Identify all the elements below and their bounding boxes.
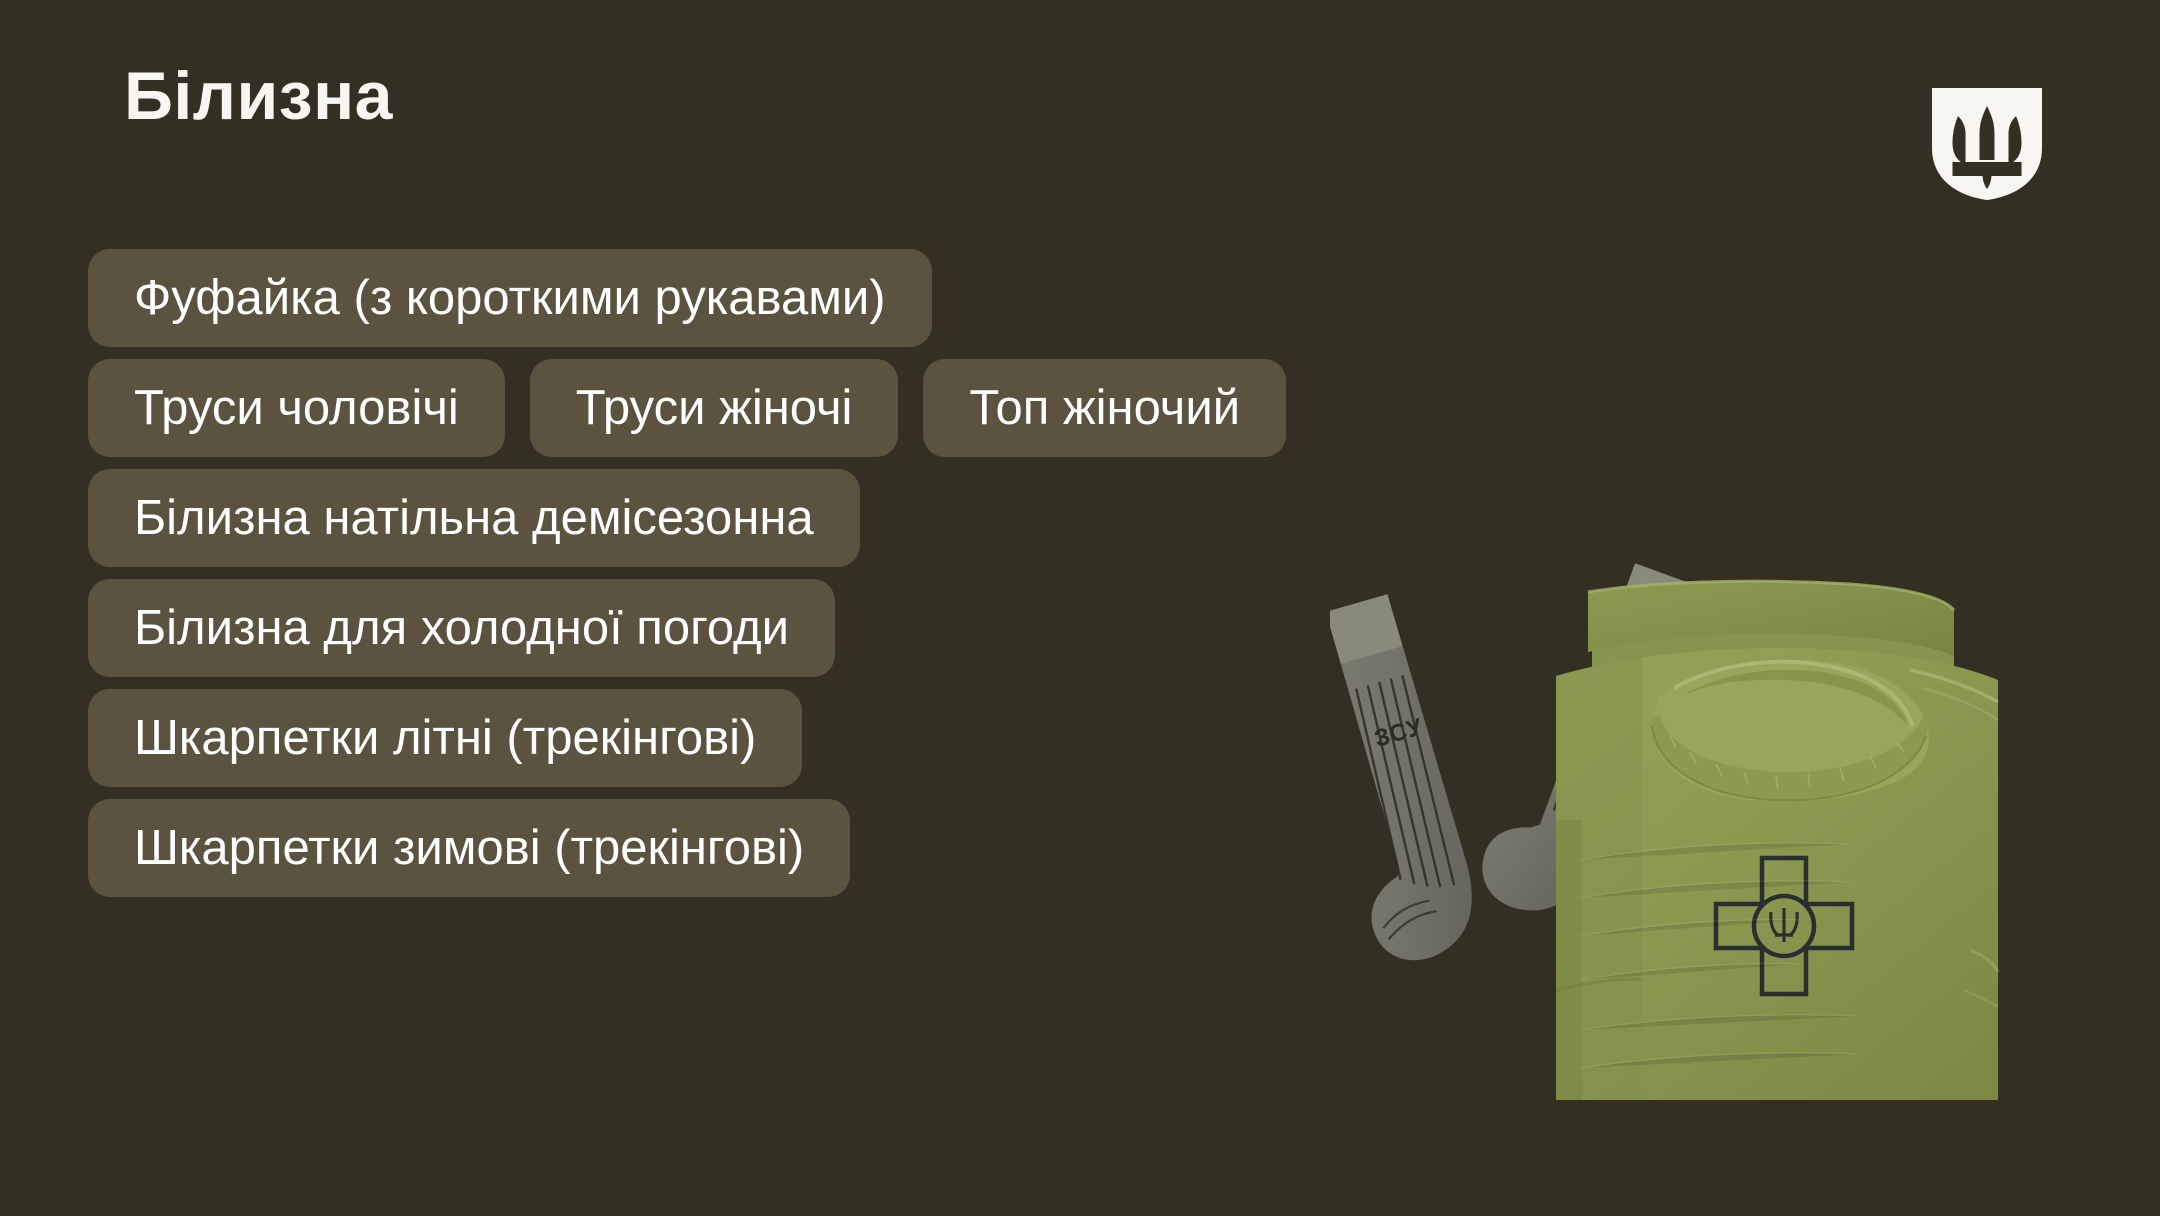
item-pill-trusy-zhinochi[interactable]: Труси жіночі	[530, 359, 899, 457]
item-label: Труси чоловічі	[134, 384, 459, 433]
item-label: Білизна натільна демісезонна	[134, 494, 814, 543]
page-title: Білизна	[124, 62, 393, 130]
item-row: Шкарпетки зимові (трекінгові)	[88, 799, 1408, 897]
item-row: Білизна натільна демісезонна	[88, 469, 1408, 567]
item-pill-top-zhinochyi[interactable]: Топ жіночий	[923, 359, 1286, 457]
item-pill-bilyzna-kholodna-pohoda[interactable]: Білизна для холодної погоди	[88, 579, 835, 677]
zsu-shield-trident-icon	[1932, 88, 2042, 200]
underwear-set-photo: ЗСУ З	[1330, 520, 2030, 1100]
item-pill-shkarpetky-litni[interactable]: Шкарпетки літні (трекінгові)	[88, 689, 802, 787]
item-pill-shkarpetky-zymovi[interactable]: Шкарпетки зимові (трекінгові)	[88, 799, 850, 897]
item-row: Фуфайка (з короткими рукавами)	[88, 249, 1408, 347]
item-pill-trusy-cholovichi[interactable]: Труси чоловічі	[88, 359, 505, 457]
item-row: Шкарпетки літні (трекінгові)	[88, 689, 1408, 787]
slide-root: Білизна Фуфайка (з короткими рукавами)	[0, 0, 2160, 1216]
item-label: Труси жіночі	[576, 384, 853, 433]
item-label: Шкарпетки зимові (трекінгові)	[134, 824, 804, 873]
item-label: Шкарпетки літні (трекінгові)	[134, 714, 756, 763]
item-pill-fufaika[interactable]: Фуфайка (з короткими рукавами)	[88, 249, 932, 347]
item-pill-bilyzna-natilna-demisezonna[interactable]: Білизна натільна демісезонна	[88, 469, 860, 567]
item-label: Білизна для холодної погоди	[134, 604, 789, 653]
item-label: Топ жіночий	[969, 384, 1240, 433]
item-label: Фуфайка (з короткими рукавами)	[134, 274, 886, 323]
item-list: Фуфайка (з короткими рукавами) Труси чол…	[88, 249, 1408, 909]
item-row: Труси чоловічі Труси жіночі Топ жіночий	[88, 359, 1408, 457]
item-row: Білизна для холодної погоди	[88, 579, 1408, 677]
